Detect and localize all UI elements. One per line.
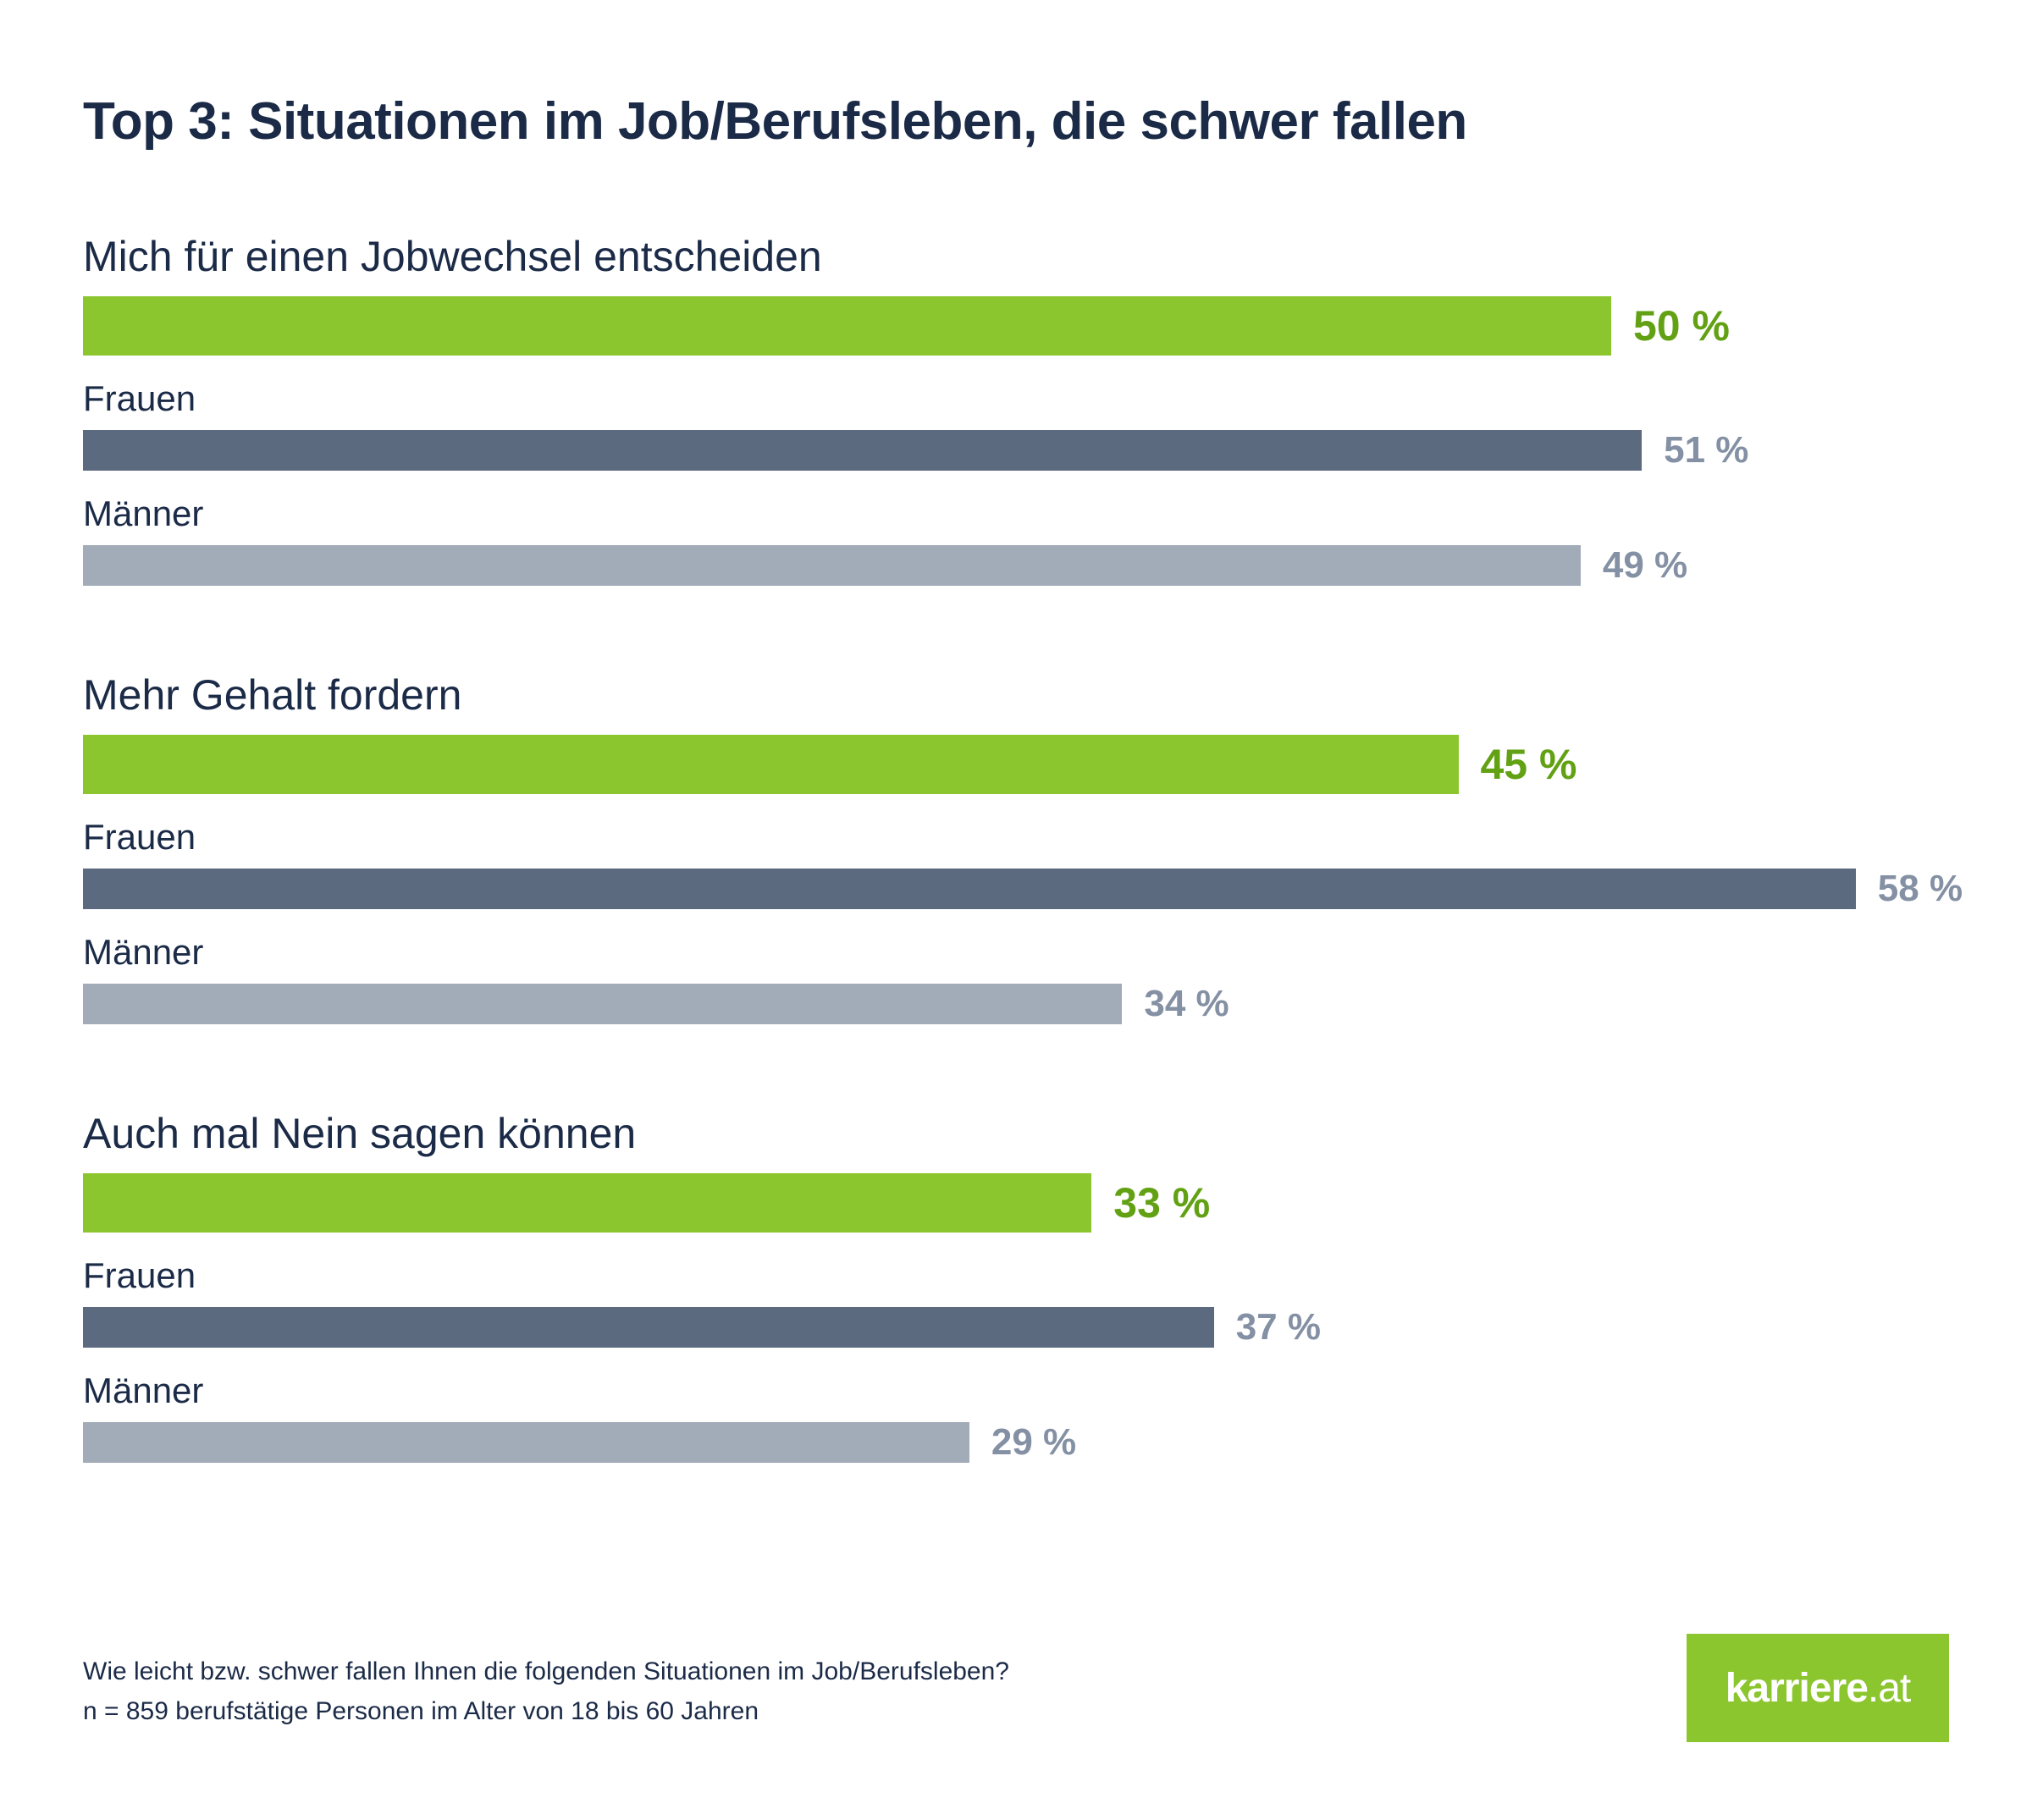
- bar-row-women: 37 %: [83, 1307, 2032, 1348]
- bar-value-women: 51 %: [1664, 432, 1748, 469]
- page-title: Top 3: Situationen im Job/Berufsleben, d…: [83, 91, 1467, 152]
- footnote-sample: n = 859 berufstätige Personen im Alter v…: [83, 1692, 1009, 1732]
- bar-value-total: 33 %: [1113, 1182, 1210, 1224]
- karriere-at-logo[interactable]: karriere.at: [1687, 1634, 1949, 1742]
- footnote-question: Wie leicht bzw. schwer fallen Ihnen die …: [83, 1652, 1009, 1692]
- bar-women: [83, 1307, 1214, 1348]
- bar-total: [83, 735, 1459, 794]
- bar-women: [83, 869, 1856, 909]
- bar-men: [83, 545, 1581, 586]
- bar-value-women: 37 %: [1236, 1309, 1321, 1346]
- bar-row-men: 49 %: [83, 545, 2032, 586]
- series-label-women: Frauen: [83, 356, 2032, 430]
- bar-row-men: 34 %: [83, 984, 2032, 1024]
- bar-men: [83, 984, 1122, 1024]
- group-title: Mich für einen Jobwechsel entscheiden: [83, 229, 2032, 296]
- bar-total: [83, 296, 1611, 356]
- bar-row-women: 51 %: [83, 430, 2032, 471]
- bar-value-total: 50 %: [1633, 305, 1730, 347]
- bar-row-women: 58 %: [83, 869, 2032, 909]
- series-label-women: Frauen: [83, 794, 2032, 869]
- bar-value-men: 29 %: [991, 1424, 1076, 1461]
- bar-total: [83, 1173, 1091, 1233]
- series-label-men: Männer: [83, 909, 2032, 984]
- chart-groups: Mich für einen Jobwechsel entscheiden 50…: [0, 229, 2032, 1544]
- chart-footer: Wie leicht bzw. schwer fallen Ihnen die …: [0, 1634, 2032, 1820]
- bar-value-men: 49 %: [1603, 547, 1687, 584]
- series-label-men: Männer: [83, 1348, 2032, 1422]
- bar-row-total: 50 %: [83, 296, 2032, 356]
- bar-men: [83, 1422, 969, 1463]
- bar-value-total: 45 %: [1481, 743, 1577, 786]
- bar-value-men: 34 %: [1144, 985, 1229, 1023]
- group-title: Mehr Gehalt fordern: [83, 667, 2032, 735]
- logo-tld: .at: [1868, 1666, 1910, 1711]
- chart-group: Mich für einen Jobwechsel entscheiden 50…: [0, 229, 2032, 586]
- bar-row-total: 45 %: [83, 735, 2032, 794]
- group-title: Auch mal Nein sagen können: [83, 1106, 2032, 1173]
- logo-text: karriere.at: [1726, 1665, 1911, 1712]
- footnote: Wie leicht bzw. schwer fallen Ihnen die …: [83, 1652, 1009, 1731]
- series-label-women: Frauen: [83, 1233, 2032, 1307]
- chart-group: Auch mal Nein sagen können 33 % Frauen 3…: [0, 1106, 2032, 1463]
- bar-row-total: 33 %: [83, 1173, 2032, 1233]
- bar-value-women: 58 %: [1878, 870, 1963, 907]
- series-label-men: Männer: [83, 471, 2032, 545]
- logo-brand: karriere: [1726, 1666, 1868, 1711]
- chart-page: Top 3: Situationen im Job/Berufsleben, d…: [0, 0, 2032, 1820]
- bar-row-men: 29 %: [83, 1422, 2032, 1463]
- bar-women: [83, 430, 1642, 471]
- chart-group: Mehr Gehalt fordern 45 % Frauen 58 % Män…: [0, 667, 2032, 1024]
